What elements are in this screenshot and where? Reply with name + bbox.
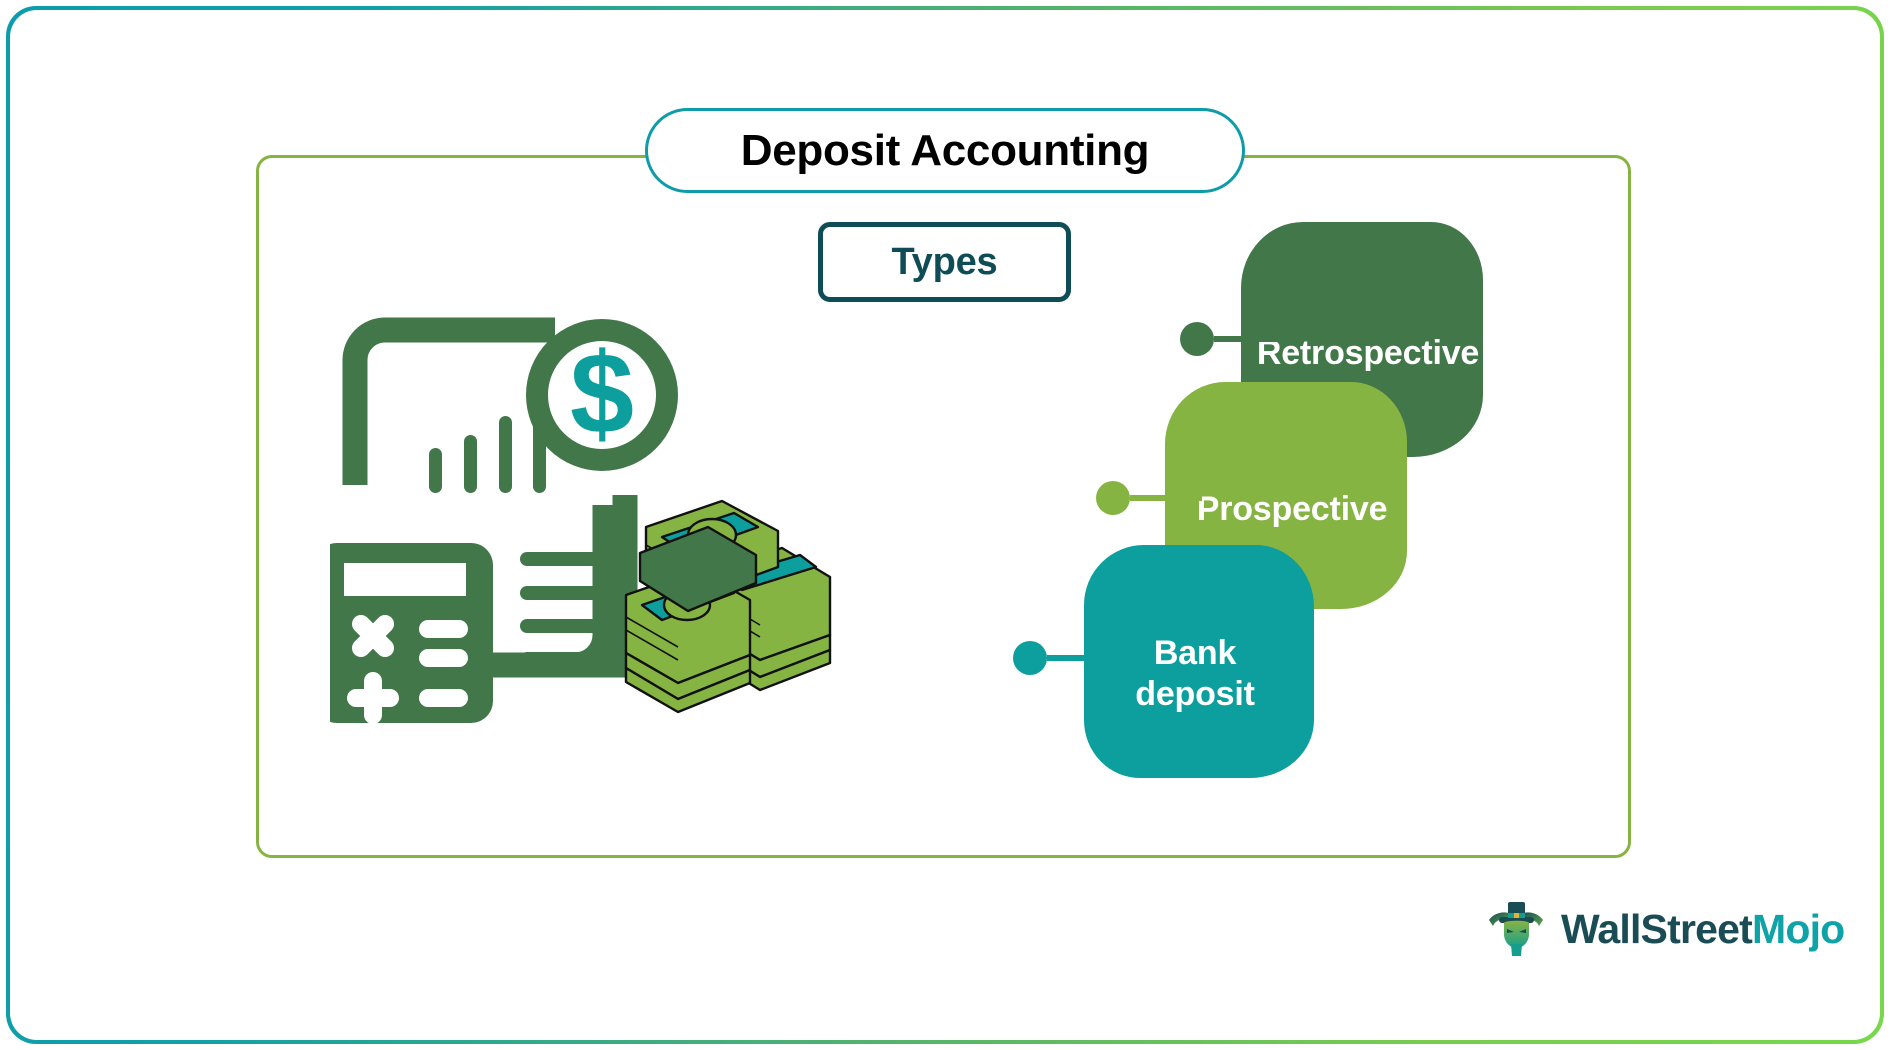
connector-retrospective [1180,322,1284,356]
section-label-types: Types [818,222,1071,302]
page-title-text: Deposit Accounting [741,126,1150,176]
bull-with-top-hat-icon [1485,898,1547,960]
page-title: Deposit Accounting [645,108,1245,193]
connector-prospective [1096,481,1202,515]
dollar-circle-icon: $ [537,330,667,460]
connector-line [1047,655,1123,661]
section-label-text: Types [891,241,997,284]
connector-dot-icon [1096,481,1130,515]
connector-dot-icon [1180,322,1214,356]
infographic-canvas: Deposit Accounting Types Retrospective P… [0,0,1890,1050]
type-card-label: Prospective [1187,489,1398,529]
connector-line [1214,336,1284,342]
brand-logo[interactable]: WallStreetMojo [1485,898,1844,960]
brand-logo-text: WallStreetMojo [1561,906,1844,953]
connector-dot-icon [1013,641,1047,675]
brand-name-primary: WallStreet [1561,906,1752,952]
money-stack-icon [626,501,830,712]
type-card-label: Bank deposit [1125,633,1265,713]
connector-bank-deposit [1013,641,1123,675]
connector-line [1130,495,1202,501]
calculator-icon [330,543,493,724]
brand-name-secondary: Mojo [1752,906,1844,952]
accounting-illustration: $ [330,305,930,735]
svg-text:$: $ [570,330,634,458]
